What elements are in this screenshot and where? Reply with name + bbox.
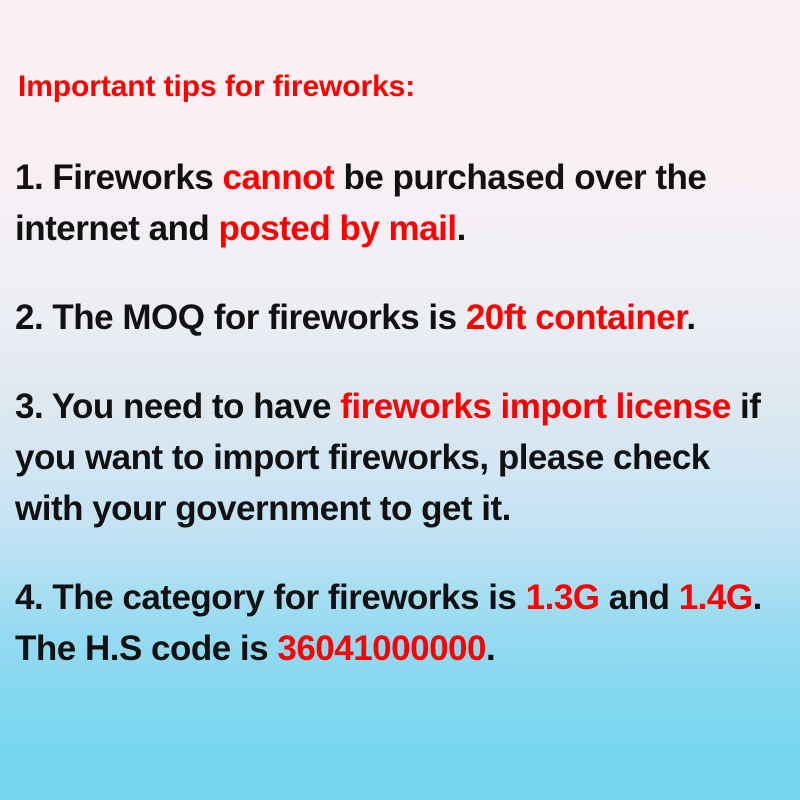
tips-list: 1. Fireworks cannot be purchased over th… bbox=[15, 152, 783, 674]
tip-1-segment-1: 1. Fireworks bbox=[15, 158, 222, 197]
tip-item-2: 2. The MOQ for fireworks is 20ft contain… bbox=[15, 292, 783, 343]
tip-4-segment-7: . bbox=[486, 629, 495, 668]
tip-3-segment-2-highlight: fireworks import license bbox=[340, 387, 731, 426]
tip-4-segment-2-highlight: 1.3G bbox=[526, 578, 600, 617]
tip-1-segment-2-highlight: cannot bbox=[222, 158, 334, 197]
tip-2-segment-3: . bbox=[686, 298, 695, 337]
tip-4-segment-1: 4. The category for fireworks is bbox=[15, 578, 526, 617]
page-title: Important tips for fireworks: bbox=[18, 68, 415, 106]
tip-item-1: 1. Fireworks cannot be purchased over th… bbox=[15, 152, 783, 254]
tip-item-3: 3. You need to have fireworks import lic… bbox=[15, 381, 783, 534]
tip-1-segment-4-highlight: posted by mail bbox=[219, 209, 457, 248]
tip-2-segment-2-highlight: 20ft container bbox=[466, 298, 687, 337]
tip-item-4: 4. The category for fireworks is 1.3G an… bbox=[15, 572, 783, 674]
tip-2-segment-1: 2. The MOQ for fireworks is bbox=[15, 298, 466, 337]
tip-3-segment-1: 3. You need to have bbox=[15, 387, 340, 426]
tip-4-segment-6-highlight: 36041000000 bbox=[277, 629, 486, 668]
tip-4-segment-4-highlight: 1.4G bbox=[679, 578, 753, 617]
fireworks-tips-poster: Important tips for fireworks: 1. Firewor… bbox=[0, 0, 800, 800]
tip-4-segment-3: and bbox=[600, 578, 679, 617]
tip-1-segment-5: . bbox=[457, 209, 466, 248]
